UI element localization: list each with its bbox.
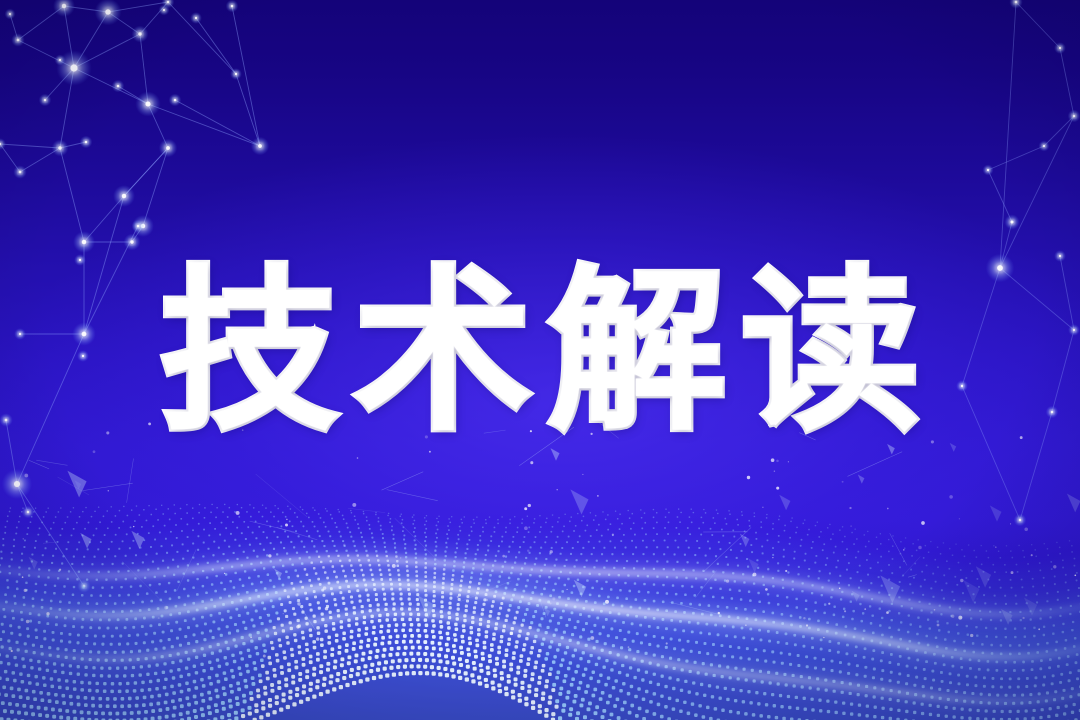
particle-wave xyxy=(0,420,1080,720)
page-title: 技术解读 xyxy=(145,265,934,441)
headline-container: 技术解读 xyxy=(0,248,1080,458)
banner-root: 技术解读 xyxy=(0,0,1080,720)
